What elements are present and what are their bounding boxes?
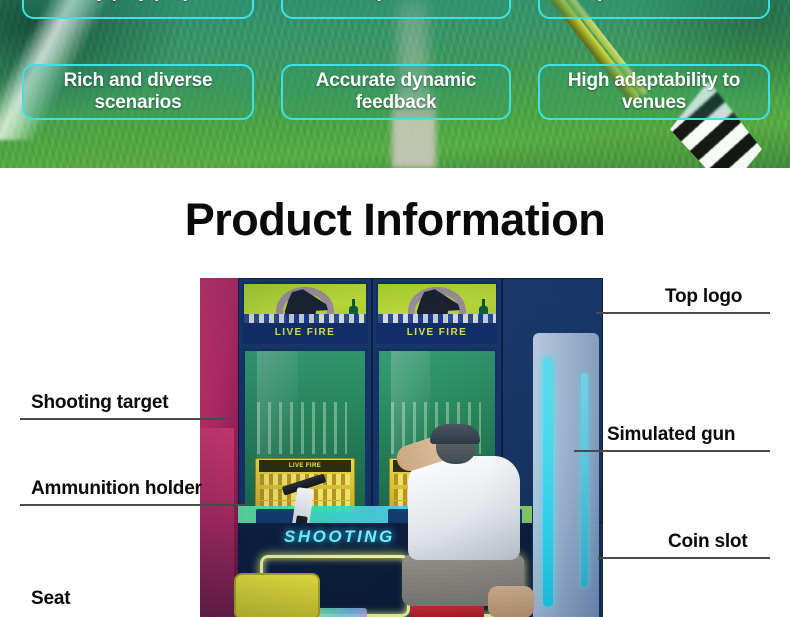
leader-line-simulated-gun (574, 450, 770, 452)
top-logo-panel-left: LIVE FIRE (242, 282, 368, 344)
feature-card-label: High adaptability to venues (548, 70, 760, 115)
feature-card-high-adaptability-to-venues[interactable]: High adaptability to venues (538, 64, 770, 120)
feature-card-trendy-play-projects[interactable]: trendy play projects (22, 0, 254, 19)
callout-label-top-logo: Top logo (665, 286, 742, 308)
leader-line-shooting-target (20, 418, 228, 420)
callout-label-shooting-target: Shooting target (31, 392, 168, 414)
player-figure (396, 428, 546, 617)
leader-line-coin-slot (598, 557, 770, 559)
callout-label-simulated-gun: Simulated gun (607, 424, 735, 446)
prize-header-label: LIVE FIRE (259, 460, 351, 472)
callout-label-ammunition-holder: Ammunition holder (31, 478, 202, 500)
feature-card-label: trendy play projects (50, 0, 227, 4)
product-photo: LIVE FIRE LIVE FIRE LIVE FIRE (200, 278, 603, 617)
top-logo-panel-right: LIVE FIRE (376, 282, 498, 344)
leader-line-top-logo (596, 312, 770, 314)
page-title: Product Information (0, 194, 790, 246)
pink-curtain-lower (200, 428, 234, 617)
feature-card-rich-and-diverse-scenarios[interactable]: Rich and diverse scenarios (22, 64, 254, 120)
feature-card-accurate-dynamic-feedback[interactable]: Accurate dynamic feedback (281, 64, 511, 120)
leader-line-ammunition-holder (20, 504, 246, 506)
feature-card-label: procurement (597, 0, 711, 4)
cabinet-label: SHOOTING (284, 527, 395, 547)
callout-label-seat: Seat (31, 588, 70, 610)
feature-card-procurement[interactable]: procurement (538, 0, 770, 19)
marquee-label: LIVE FIRE (407, 327, 467, 338)
feature-card-label: Rich and diverse scenarios (32, 70, 244, 115)
feature-card-competitions[interactable]: competitions (281, 0, 511, 19)
page-root: trendy play projects competitions procur… (0, 0, 790, 617)
features-banner: trendy play projects competitions procur… (0, 0, 790, 168)
feature-card-label: Accurate dynamic feedback (291, 70, 501, 115)
ammunition-holder-bucket (234, 573, 320, 617)
feature-card-label: competitions (338, 0, 454, 4)
marquee-label: LIVE FIRE (275, 327, 335, 338)
callout-label-coin-slot: Coin slot (668, 531, 747, 553)
